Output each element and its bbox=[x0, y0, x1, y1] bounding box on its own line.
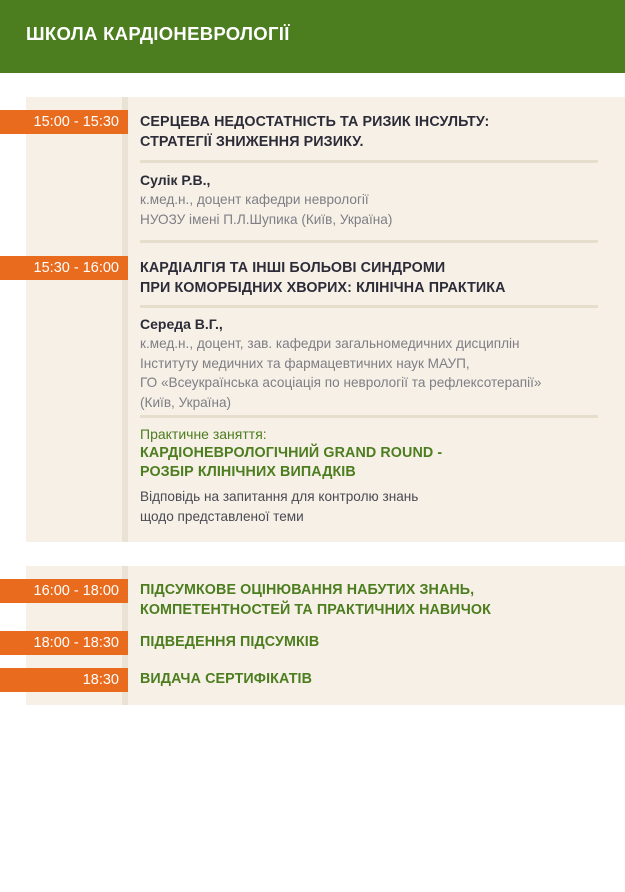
speaker-name: Сулік Р.В., bbox=[140, 170, 610, 190]
speaker-affiliation-line: Інституту медичних та фармацевтичних нау… bbox=[140, 354, 610, 374]
speaker-affiliation-line: НУОЗУ імені П.Л.Шупика (Київ, Україна) bbox=[140, 210, 610, 230]
time-badge[interactable]: 16:00 - 18:00 bbox=[0, 579, 128, 603]
time-badge[interactable]: 15:00 - 15:30 bbox=[0, 110, 128, 134]
practical-session-note-line: щодо представленої теми bbox=[140, 507, 610, 527]
speaker-block: Сулік Р.В., к.мед.н., доцент кафедри нев… bbox=[140, 170, 610, 229]
time-badge[interactable]: 15:30 - 16:00 bbox=[0, 256, 128, 280]
section-divider bbox=[140, 305, 598, 308]
session-title-line: ВИДАЧА СЕРТИФІКАТІВ bbox=[140, 669, 610, 689]
practical-session-label: Практичне заняття: bbox=[140, 424, 610, 444]
practical-session-title-line: РОЗБІР КЛІНІЧНИХ ВИПАДКІВ bbox=[140, 463, 610, 482]
speaker-affiliation-line: к.мед.н., доцент кафедри неврології bbox=[140, 190, 610, 210]
session-title-line: СТРАТЕГІЇ ЗНИЖЕННЯ РИЗИКУ. bbox=[140, 132, 610, 152]
session-title-line: КОМПЕТЕНТНОСТЕЙ ТА ПРАКТИЧНИХ НАВИЧОК bbox=[140, 600, 610, 620]
session-title-line: ПІДВЕДЕННЯ ПІДСУМКІВ bbox=[140, 632, 610, 652]
section-divider bbox=[140, 160, 598, 163]
time-badge[interactable]: 18:00 - 18:30 bbox=[0, 631, 128, 655]
practical-session-note-line: Відповідь на запитання для контролю знан… bbox=[140, 487, 610, 507]
practical-session-block: Практичне заняття: КАРДІОНЕВРОЛОГІЧНИЙ G… bbox=[140, 424, 610, 526]
session-title-line: ПІДСУМКОВЕ ОЦІНЮВАННЯ НАБУТИХ ЗНАНЬ, bbox=[140, 580, 610, 600]
practical-session-title-line: КАРДІОНЕВРОЛОГІЧНИЙ GRAND ROUND - bbox=[140, 444, 610, 463]
speaker-affiliation-line: (Київ, Україна) bbox=[140, 393, 610, 413]
speaker-affiliation-line: ГО «Всеукраїнська асоціація по неврологі… bbox=[140, 373, 610, 393]
session-title: ПІДВЕДЕННЯ ПІДСУМКІВ bbox=[140, 632, 610, 652]
time-column-divider-upper bbox=[122, 97, 128, 542]
speaker-name: Середа В.Г., bbox=[140, 314, 610, 334]
section-divider bbox=[140, 240, 598, 243]
time-badge[interactable]: 18:30 bbox=[0, 668, 128, 692]
session-title: СЕРЦЕВА НЕДОСТАТНІСТЬ ТА РИЗИК ІНСУЛЬТУ:… bbox=[140, 112, 610, 152]
session-title-line: СЕРЦЕВА НЕДОСТАТНІСТЬ ТА РИЗИК ІНСУЛЬТУ: bbox=[140, 112, 610, 132]
speaker-affiliation-line: к.мед.н., доцент, зав. кафедри загальном… bbox=[140, 334, 610, 354]
speaker-block: Середа В.Г., к.мед.н., доцент, зав. кафе… bbox=[140, 314, 610, 412]
session-title: ПІДСУМКОВЕ ОЦІНЮВАННЯ НАБУТИХ ЗНАНЬ, КОМ… bbox=[140, 580, 610, 620]
page-title: ШКОЛА КАРДІОНЕВРОЛОГІЇ bbox=[26, 23, 290, 45]
session-title-line: ПРИ КОМОРБІДНИХ ХВОРИХ: КЛІНІЧНА ПРАКТИК… bbox=[140, 278, 610, 298]
session-title: ВИДАЧА СЕРТИФІКАТІВ bbox=[140, 669, 610, 689]
session-title-line: КАРДІАЛГІЯ ТА ІНШІ БОЛЬОВІ СИНДРОМИ bbox=[140, 258, 610, 278]
session-title: КАРДІАЛГІЯ ТА ІНШІ БОЛЬОВІ СИНДРОМИ ПРИ … bbox=[140, 258, 610, 298]
section-divider bbox=[140, 415, 598, 418]
